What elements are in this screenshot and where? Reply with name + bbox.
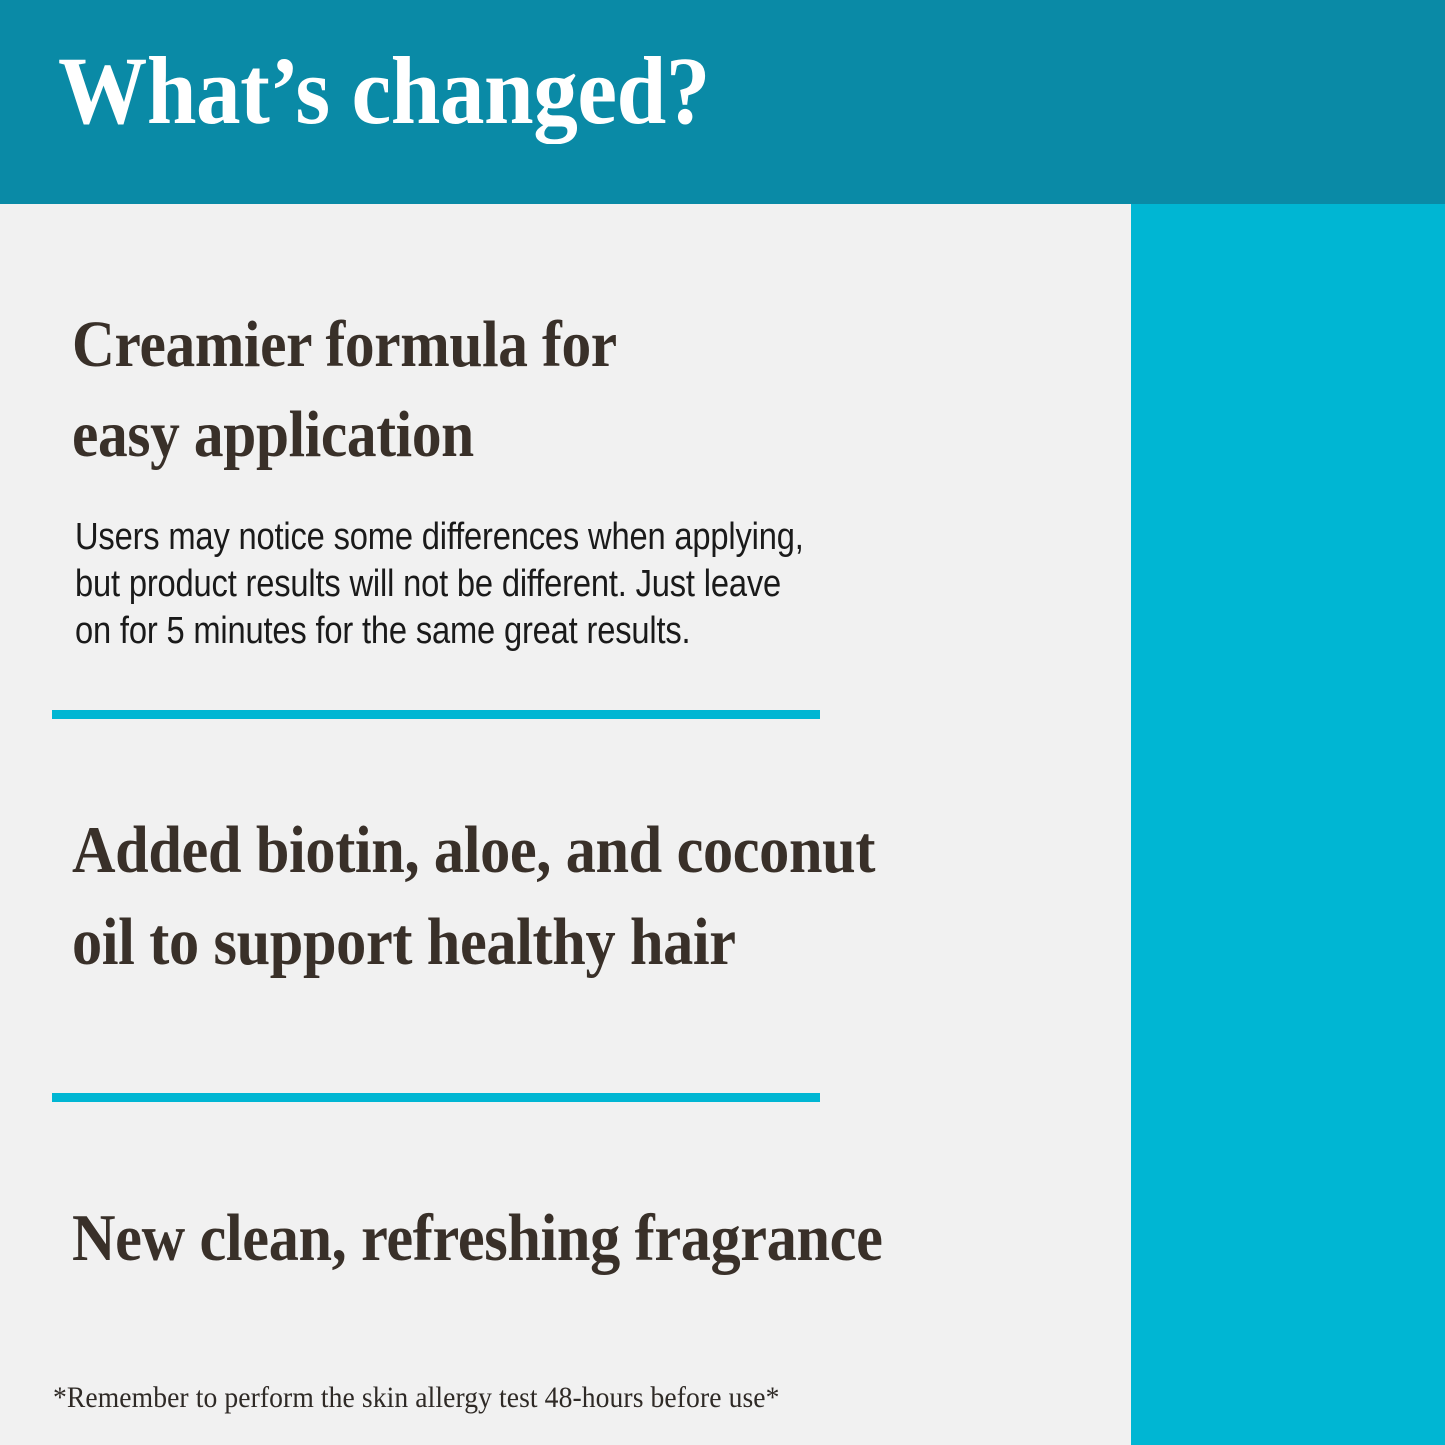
section-divider-1 — [52, 710, 820, 719]
footnote-allergy-test: *Remember to perform the skin allergy te… — [53, 1380, 780, 1416]
header-band: What’s changed? — [0, 0, 1445, 204]
section-body-creamier-formula: Users may notice some differences when a… — [75, 514, 944, 655]
section-heading-new-fragrance: New clean, refreshing fragrance — [72, 1192, 882, 1284]
section-heading-creamier-formula: Creamier formula for easy application — [72, 300, 617, 480]
right-accent-panel — [1131, 204, 1445, 1445]
page-title: What’s changed? — [58, 36, 710, 146]
content-column: Creamier formula for easy application Us… — [0, 204, 1131, 1445]
section-heading-added-biotin: Added biotin, aloe, and coconut oil to s… — [72, 804, 875, 988]
slide-root: What’s changed? Creamier formula for eas… — [0, 0, 1445, 1445]
section-divider-2 — [52, 1093, 820, 1102]
